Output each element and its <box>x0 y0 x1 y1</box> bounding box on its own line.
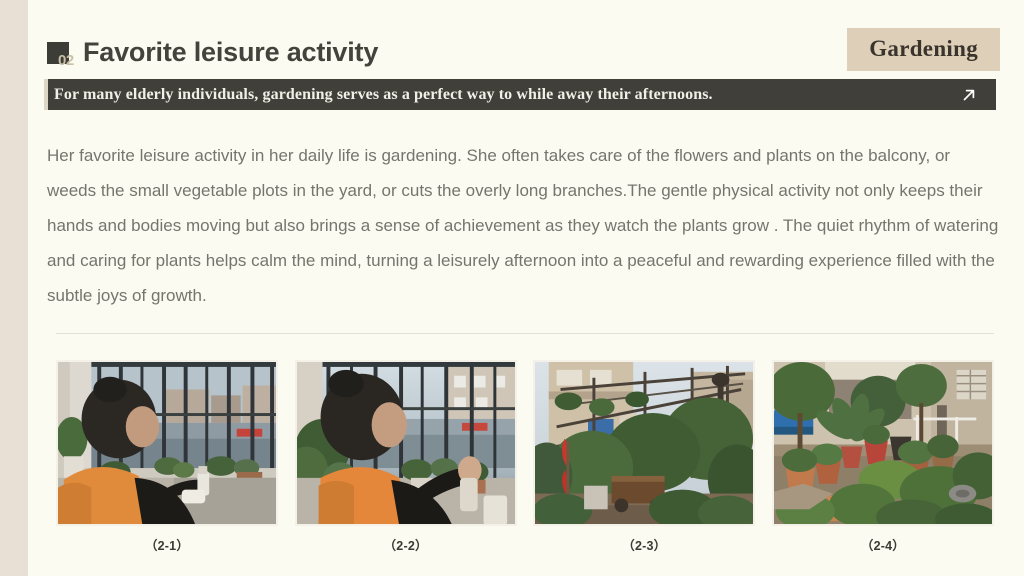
banner-accent-bar <box>44 79 48 110</box>
photo-caption: （2-2） <box>384 535 428 554</box>
photo-cell-2-2[interactable]: （2-2） <box>295 360 517 560</box>
photo-strip: （2-1） <box>56 360 994 560</box>
banner-text: For many elderly individuals, gardening … <box>54 86 950 104</box>
photo-caption: （2-1） <box>145 535 189 554</box>
topic-badge: Gardening <box>847 28 1000 71</box>
photo-image-potted-plant-garden <box>774 362 992 525</box>
photo-image-garden-pergola <box>535 362 753 525</box>
page-title: Favorite leisure activity <box>83 39 378 66</box>
body-paragraph: Her favorite leisure activity in her dai… <box>47 138 999 313</box>
photo-caption: （2-4） <box>861 535 905 554</box>
section-number: 02 <box>58 53 74 68</box>
photo-frame[interactable] <box>533 360 755 526</box>
slide-header: 02 Favorite leisure activity Gardening <box>47 22 1000 72</box>
section-divider <box>56 333 994 334</box>
slide-canvas: 02 Favorite leisure activity Gardening F… <box>0 0 1024 576</box>
photo-image-woman-at-window <box>58 362 276 525</box>
photo-image-woman-reaching-plants <box>297 362 515 525</box>
photo-cell-2-1[interactable]: （2-1） <box>56 360 278 560</box>
photo-cell-2-4[interactable]: （2-4） <box>772 360 994 560</box>
photo-cell-2-3[interactable]: （2-3） <box>533 360 755 560</box>
title-group: 02 Favorite leisure activity <box>47 22 378 68</box>
photo-frame[interactable] <box>56 360 278 526</box>
left-margin-strip <box>0 0 28 576</box>
photo-frame[interactable] <box>295 360 517 526</box>
section-marker-square: 02 <box>47 42 69 64</box>
photo-frame[interactable] <box>772 360 994 526</box>
quote-banner: For many elderly individuals, gardening … <box>44 79 996 110</box>
photo-caption: （2-3） <box>622 535 666 554</box>
arrow-up-right-icon[interactable] <box>960 86 978 104</box>
